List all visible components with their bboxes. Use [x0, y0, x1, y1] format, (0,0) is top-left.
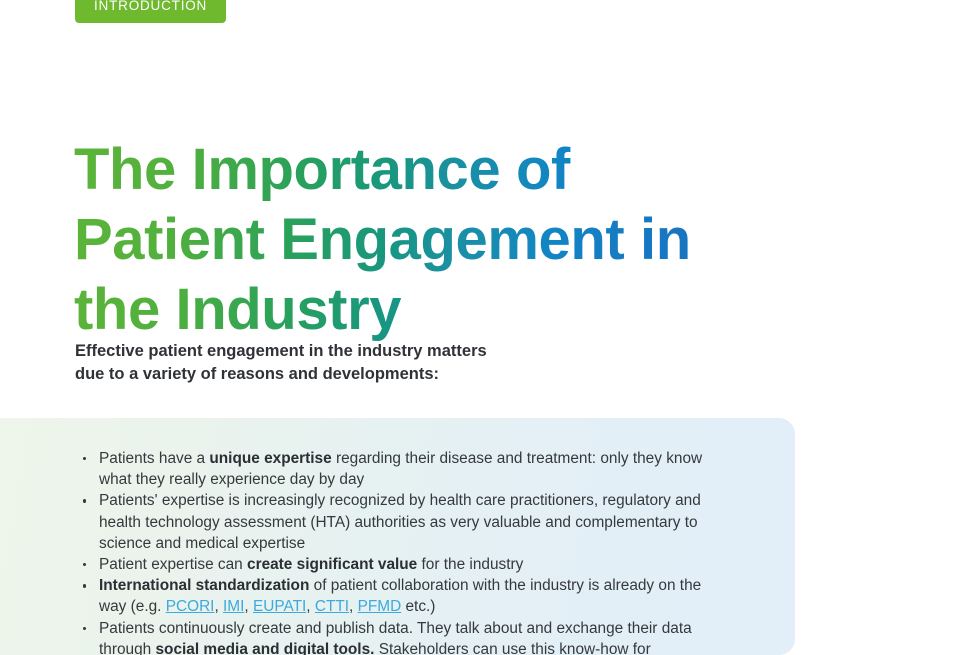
list-item-text: Patient expertise can	[99, 556, 247, 573]
section-badge-wrapper: INTRODUCTION	[75, 0, 226, 23]
reference-link-pcori[interactable]: PCORI	[166, 598, 215, 615]
reasons-bullet-list: Patients have a unique expertise regardi…	[78, 448, 728, 655]
emphasis-text: social media and digital tools.	[155, 641, 374, 655]
emphasis-text: create significant value	[247, 556, 417, 573]
reference-link-imi[interactable]: IMI	[223, 598, 244, 615]
list-item-text: ,	[349, 598, 358, 615]
content-panel: Patients have a unique expertise regardi…	[0, 418, 795, 655]
emphasis-text: International standardization	[99, 577, 309, 594]
subtitle-line-2: due to a variety of reasons and developm…	[75, 363, 635, 386]
subtitle-line-1: Effective patient engagement in the indu…	[75, 340, 635, 363]
subtitle: Effective patient engagement in the indu…	[75, 340, 635, 387]
list-item-text: for the industry	[417, 556, 523, 573]
page-title: The Importance of Patient Engagement in …	[74, 135, 714, 346]
list-item: International standardization of patient…	[78, 575, 728, 617]
reference-link-eupati[interactable]: EUPATI	[253, 598, 306, 615]
list-item-text: Stakeholders can use this know-how for	[374, 641, 650, 655]
section-badge: INTRODUCTION	[75, 0, 226, 23]
reference-link-pfmd[interactable]: PFMD	[358, 598, 402, 615]
reference-link-ctti[interactable]: CTTI	[315, 598, 349, 615]
list-item-text: Patients have a	[99, 450, 209, 467]
list-item: Patients have a unique expertise regardi…	[78, 448, 728, 490]
list-item: Patients' expertise is increasingly reco…	[78, 490, 728, 554]
list-item-text: ,	[306, 598, 315, 615]
list-item-text: ,	[214, 598, 223, 615]
list-item-text: etc.)	[401, 598, 435, 615]
list-item: Patient expertise can create significant…	[78, 554, 728, 575]
emphasis-text: unique expertise	[209, 450, 331, 467]
list-item: Patients continuously create and publish…	[78, 618, 728, 655]
list-item-text: ,	[244, 598, 253, 615]
list-item-text: Patients' expertise is increasingly reco…	[99, 492, 701, 551]
